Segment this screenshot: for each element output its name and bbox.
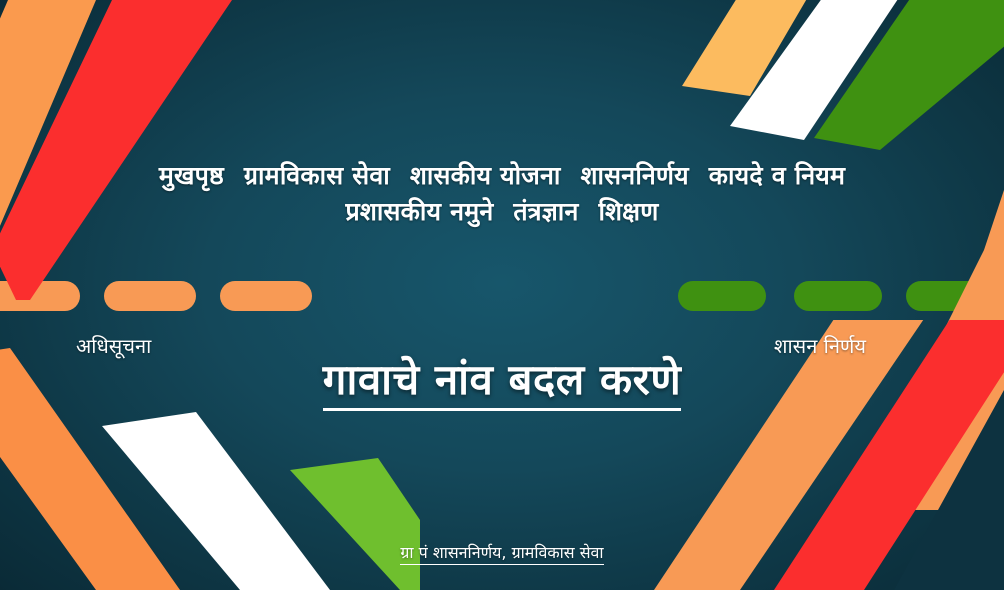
page-title: गावाचे नांव बदल करणे: [0, 357, 1004, 411]
nav-item-shaskiy-yojana[interactable]: शासकीय योजना: [410, 161, 561, 190]
nav-line-2: प्रशासकीय नमुने तंत्रज्ञान शिक्षण: [90, 194, 914, 230]
nav-item-shikshan[interactable]: शिक्षण: [598, 197, 658, 226]
pill-right-1: [678, 281, 766, 311]
nav-item-tantradnyan[interactable]: तंत्रज्ञान: [513, 197, 578, 226]
pill-left-1: [0, 281, 80, 311]
label-adhisuchana[interactable]: अधिसूचना: [76, 336, 151, 356]
page-title-text: गावाचे नांव बदल करणे: [323, 357, 681, 411]
stripe-orange-right: [854, 190, 1004, 510]
pill-right-2: [794, 281, 882, 311]
nav-line-1: मुखपृष्ठ ग्रामविकास सेवा शासकीय योजना शा…: [90, 158, 914, 194]
pill-left-2: [104, 281, 196, 311]
nav-item-gramvikas-seva[interactable]: ग्रामविकास सेवा: [244, 161, 390, 190]
stripe-green-bottom-left: [290, 458, 420, 590]
nav-item-kayade-v-niyam[interactable]: कायदे व नियम: [709, 161, 845, 190]
banner-canvas: मुखपृष्ठ ग्रामविकास सेवा शासकीय योजना शा…: [0, 0, 1004, 590]
stripe-white-top-right: [730, 0, 904, 140]
footer-breadcrumb: ग्रा पं शासननिर्णय, ग्रामविकास सेवा: [0, 543, 1004, 565]
footer-breadcrumb-text[interactable]: ग्रा पं शासननिर्णय, ग्रामविकास सेवा: [400, 544, 603, 565]
stripe-yellow-top-right: [682, 0, 812, 96]
label-shasan-nirnay[interactable]: शासन निर्णय: [774, 336, 866, 356]
nav-item-shasan-nirnay[interactable]: शासननिर्णय: [581, 161, 689, 190]
pill-left-3: [220, 281, 312, 311]
nav-item-mukhaprushtha[interactable]: मुखपृष्ठ: [159, 161, 224, 190]
nav-menu: मुखपृष्ठ ग्रामविकास सेवा शासकीय योजना शा…: [0, 158, 1004, 229]
pill-right-3: [906, 281, 998, 311]
stripe-red-top-left: [0, 0, 232, 300]
nav-item-prashaskiy-namune[interactable]: प्रशासकीय नमुने: [345, 197, 493, 226]
stripe-green-top-right: [814, 0, 1004, 150]
